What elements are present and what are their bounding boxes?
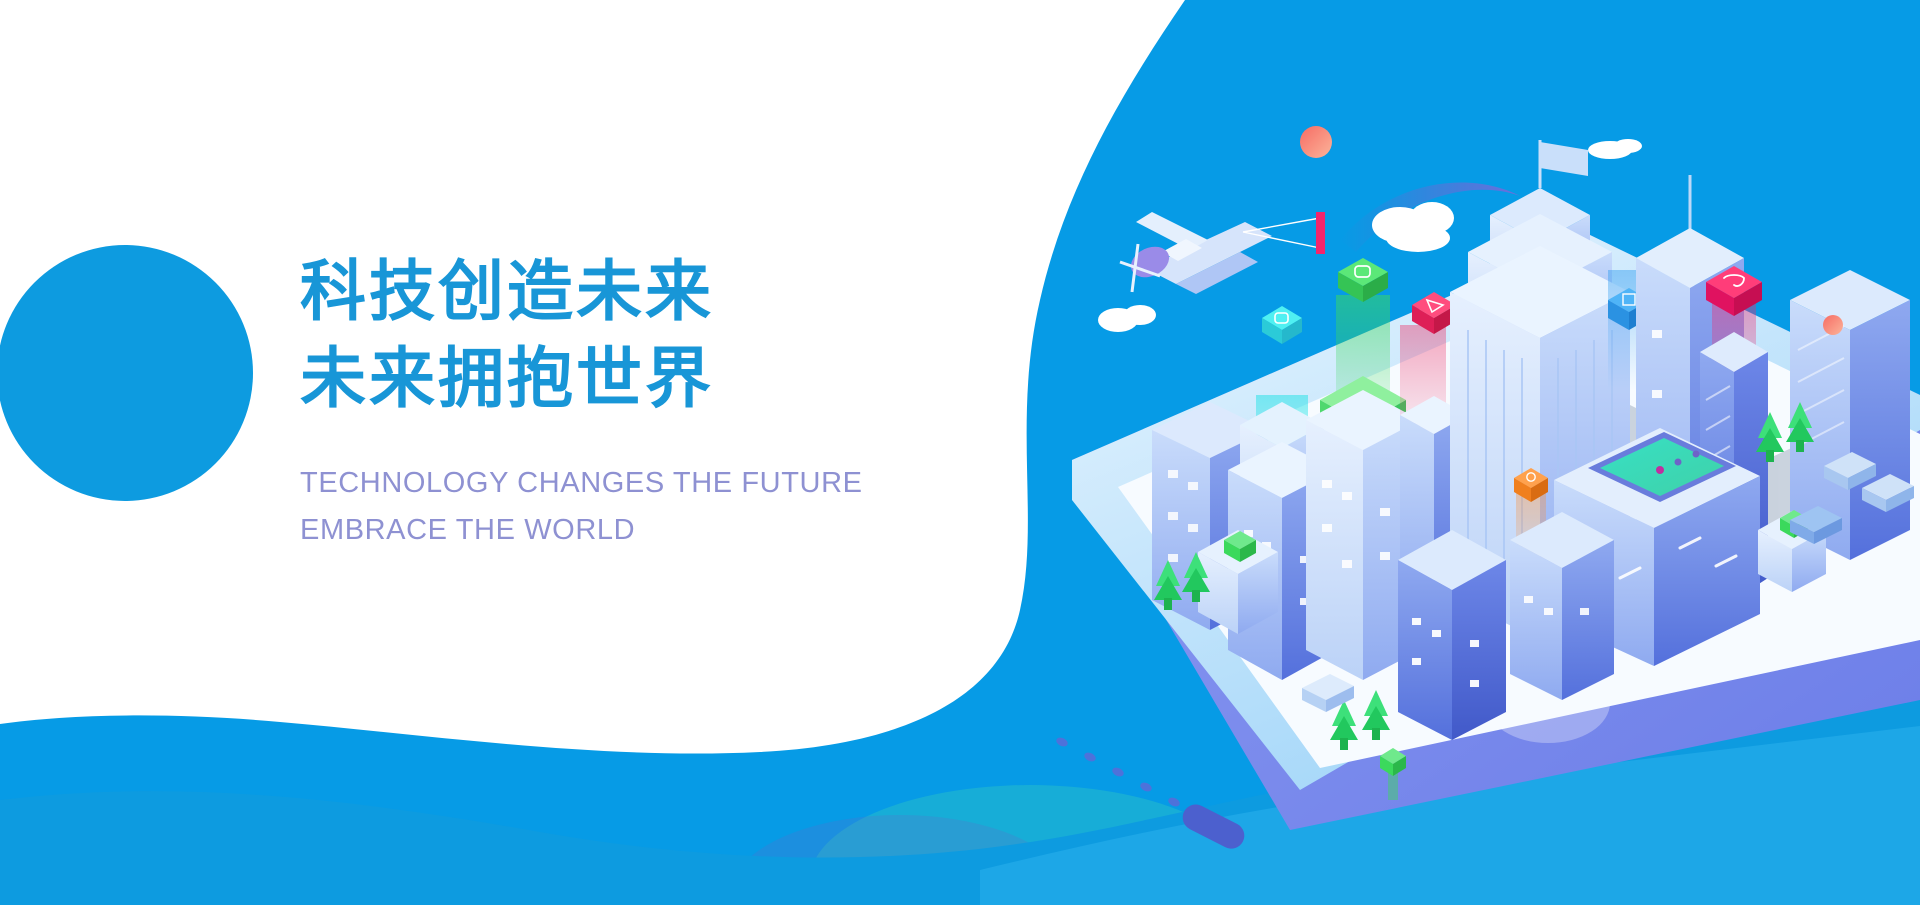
hero-banner: 科技创造未来 未来拥抱世界 TECHNOLOGY CHANGES THE FUT…: [0, 0, 1920, 905]
subtitle-block: TECHNOLOGY CHANGES THE FUTURE EMBRACE TH…: [300, 460, 920, 554]
building-podium-left: [1198, 530, 1278, 634]
airplane: [1120, 212, 1325, 294]
phone-speaker-holes: [1055, 736, 1181, 808]
phone-charging-port: [1178, 800, 1249, 853]
building-front-mid: [1398, 530, 1506, 740]
beacon-cyan-chat: [1262, 306, 1302, 344]
headline-line-1: 科技创造未来: [300, 248, 920, 335]
building-front-right: [1510, 512, 1614, 700]
cloud-left: [1098, 305, 1156, 332]
subtitle-line-2: EMBRACE THE WORLD: [300, 507, 920, 554]
plane-trail-flag: [1316, 212, 1325, 254]
headline-line-2: 未来拥抱世界: [300, 335, 920, 422]
planet-coral-large: [1300, 126, 1332, 158]
subtitle-line-1: TECHNOLOGY CHANGES THE FUTURE: [300, 460, 920, 507]
banner-text-block: 科技创造未来 未来拥抱世界 TECHNOLOGY CHANGES THE FUT…: [300, 248, 920, 554]
isometric-city-illustration: [0, 0, 1920, 905]
planet-coral-small: [1823, 315, 1843, 335]
rooftop-flag: [1540, 142, 1588, 176]
cloud-right: [1588, 139, 1642, 159]
